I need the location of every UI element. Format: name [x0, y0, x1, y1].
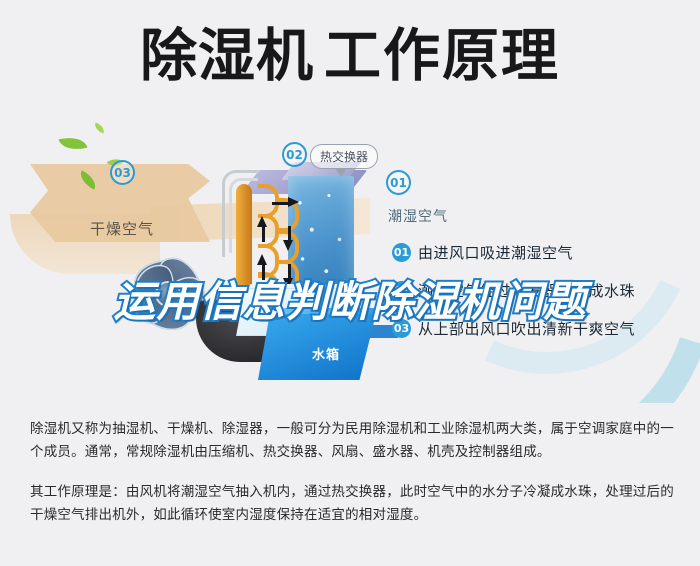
step-text: 从上部出风口吹出清新干爽空气	[418, 318, 635, 339]
fan-hub	[157, 283, 179, 305]
step-number: 01	[392, 243, 411, 262]
badge-dry-air: 03	[110, 160, 135, 185]
coil-bend	[258, 184, 279, 218]
badge-heat-exchanger: 02	[282, 142, 307, 167]
step-list: 01 由进风口吸进潮湿空气 02 潮湿空气经过蒸发器冷凝成水珠 03 从上部出风…	[392, 243, 692, 357]
page-title-part2: 工作原理	[324, 23, 560, 89]
step-number: 03	[392, 319, 411, 338]
badge-humid-air: 01	[386, 170, 411, 195]
step-number: 02	[392, 281, 411, 300]
label-dry-air: 干燥空气	[90, 218, 154, 239]
flow-arrow-up-icon	[257, 216, 267, 227]
page-title-part1: 除湿机	[140, 23, 314, 89]
coil-tube	[236, 184, 252, 296]
body-paragraph-2: 其工作原理是：由风机将潮湿空气抽入机内，通过热交换器，此时空气中的水分子冷凝成水…	[30, 481, 676, 527]
body-paragraph-1: 除湿机又称为抽湿机、干燥机、除湿器，一般可分为民用除湿机和工业除湿机两大类，属于…	[30, 418, 676, 464]
list-item: 03 从上部出风口吹出清新干爽空气	[392, 319, 692, 357]
page-title: 除湿机工作原理	[0, 28, 700, 85]
flow-arrow-stem	[272, 202, 288, 205]
step-text: 潮湿空气经过蒸发器冷凝成水珠	[418, 280, 635, 301]
flow-arrow-down-icon	[283, 240, 293, 251]
water-tank-label: 水箱	[312, 344, 340, 363]
flow-arrow-stem	[262, 264, 265, 280]
flow-arrow-stem	[262, 226, 265, 242]
leaf-icon	[93, 122, 106, 133]
flow-arrow-right-icon	[288, 197, 299, 207]
list-item: 01 由进风口吸进潮湿空气	[392, 243, 692, 281]
leaf-icon	[59, 133, 88, 154]
page-root: 除湿机工作原理	[0, 0, 700, 566]
body-copy: 除湿机又称为抽湿机、干燥机、除湿器，一般可分为民用除湿机和工业除湿机两大类，属于…	[30, 418, 676, 527]
list-item: 02 潮湿空气经过蒸发器冷凝成水珠	[392, 281, 692, 319]
callout-heat-exchanger: 热交换器	[310, 144, 378, 169]
step-text: 由进风口吸进潮湿空气	[418, 242, 573, 263]
label-humid-air: 潮湿空气	[388, 206, 448, 226]
flow-arrow-up-icon	[257, 254, 267, 265]
